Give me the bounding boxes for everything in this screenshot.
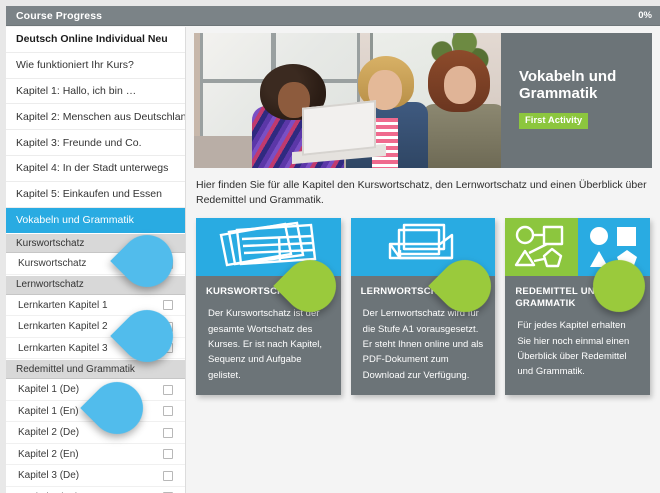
card-title: KURSWORTSCHATZ	[196, 276, 341, 298]
card-body-kurswortschatz: KURSWORTSCHATZ Der Kurswortschatz ist de…	[196, 276, 341, 395]
list-item-label: Kapitel 2 (En)	[18, 449, 79, 460]
list-item-label: Kapitel 1 (En)	[18, 406, 79, 417]
checkbox-icon[interactable]	[163, 259, 173, 269]
sidebar-item-kapitel-5[interactable]: Kapitel 5: Einkaufen und Essen	[6, 182, 185, 208]
sidebar-item-lernkarten-1[interactable]: Lernkarten Kapitel 1	[6, 295, 185, 317]
filled-shapes-icon	[584, 223, 644, 271]
card-title: REDEMITTEL UND GRAMMATIK	[505, 276, 650, 310]
sidebar-course-title: Deutsch Online Individual Neu	[6, 27, 185, 53]
sidebar-group-lernwortschatz: Lernwortschatz	[6, 275, 185, 295]
list-item-label: Lernkarten Kapitel 2	[18, 321, 108, 332]
course-progress-header: Course Progress 0%	[6, 6, 660, 26]
card-text: Für jedes Kapitel erhalten Sie hier noch…	[505, 310, 650, 392]
course-progress-title: Course Progress	[16, 10, 102, 22]
photo-laptop-screen	[302, 100, 376, 156]
sidebar-item-kurswortschatz[interactable]: Kurswortschatz	[6, 253, 185, 275]
sidebar-item-kapitel-2[interactable]: Kapitel 2: Menschen aus Deutschland	[6, 104, 185, 130]
checkbox-icon[interactable]	[163, 300, 173, 310]
card-body-lernwortschatz: LERNWORTSCHATZ Der Lernwortschatz wird f…	[351, 276, 496, 395]
shapes-diagram-icon	[512, 223, 572, 271]
card-header-half-blue	[578, 218, 650, 276]
card-title: LERNWORTSCHATZ	[351, 276, 496, 298]
sidebar-item-kapitel-2-en[interactable]: Kapitel 2 (En)	[6, 444, 185, 466]
card-header-kurswortschatz	[196, 218, 341, 276]
checkbox-icon[interactable]	[163, 406, 173, 416]
list-item-label: Lernkarten Kapitel 1	[18, 300, 108, 311]
checkbox-icon[interactable]	[163, 471, 173, 481]
intro-paragraph: Hier finden Sie für alle Kapitel den Kur…	[194, 168, 652, 218]
sidebar-item-kapitel-4[interactable]: Kapitel 4: In der Stadt unterwegs	[6, 156, 185, 182]
card-header-redemittel	[505, 218, 650, 276]
card-header-lernwortschatz	[351, 218, 496, 276]
hero-banner: Vokabeln und Grammatik First Activity	[194, 33, 652, 168]
sidebar-group-kurswortschatz: Kurswortschatz	[6, 233, 185, 253]
checkbox-icon[interactable]	[163, 385, 173, 395]
hero-photo	[194, 33, 501, 168]
sidebar-item-lernkarten-3[interactable]: Lernkarten Kapitel 3	[6, 338, 185, 360]
main-panel: Vokabeln und Grammatik First Activity Hi…	[186, 27, 660, 493]
first-activity-badge[interactable]: First Activity	[519, 113, 588, 129]
page-title: Vokabeln und Grammatik	[519, 69, 629, 103]
sidebar-item-vokabeln-und-grammatik[interactable]: Vokabeln und Grammatik	[6, 208, 185, 234]
card-header-half-green	[505, 218, 577, 276]
checkbox-icon[interactable]	[163, 322, 173, 332]
card-text: Der Lernwortschatz wird für die Stufe A1…	[351, 298, 496, 395]
sidebar-item-kapitel-3-de[interactable]: Kapitel 3 (De)	[6, 465, 185, 487]
course-navigation-sidebar[interactable]: Deutsch Online Individual Neu Wie funkti…	[6, 27, 186, 493]
checkbox-icon[interactable]	[163, 428, 173, 438]
sidebar-item-lernkarten-2[interactable]: Lernkarten Kapitel 2	[6, 316, 185, 338]
stacked-tables-icon	[213, 221, 323, 273]
checkbox-icon[interactable]	[163, 449, 173, 459]
card-grid: KURSWORTSCHATZ Der Kurswortschatz ist de…	[194, 218, 652, 395]
card-lernwortschatz[interactable]: LERNWORTSCHATZ Der Lernwortschatz wird f…	[351, 218, 496, 395]
sidebar-item-kapitel-3[interactable]: Kapitel 3: Freunde und Co.	[6, 130, 185, 156]
card-redemittel-und-grammatik[interactable]: REDEMITTEL UND GRAMMATIK Für jedes Kapit…	[505, 218, 650, 395]
hero-title-panel: Vokabeln und Grammatik First Activity	[501, 33, 652, 168]
flashcard-box-icon	[378, 222, 468, 272]
sidebar-item-kapitel-2-de[interactable]: Kapitel 2 (De)	[6, 422, 185, 444]
sidebar-item-how-course-works[interactable]: Wie funktioniert Ihr Kurs?	[6, 53, 185, 79]
sidebar-item-kapitel-1-de[interactable]: Kapitel 1 (De)	[6, 379, 185, 401]
list-item-label: Kapitel 2 (De)	[18, 427, 79, 438]
list-item-label: Kapitel 3 (De)	[18, 470, 79, 481]
list-item-label: Kapitel 1 (De)	[18, 384, 79, 395]
card-body-redemittel: REDEMITTEL UND GRAMMATIK Für jedes Kapit…	[505, 276, 650, 391]
content-area: Deutsch Online Individual Neu Wie funkti…	[6, 27, 660, 493]
card-kurswortschatz[interactable]: KURSWORTSCHATZ Der Kurswortschatz ist de…	[196, 218, 341, 395]
list-item-label: Lernkarten Kapitel 3	[18, 343, 108, 354]
sidebar-item-kapitel-1[interactable]: Kapitel 1: Hallo, ich bin …	[6, 79, 185, 105]
course-progress-percent: 0%	[638, 10, 652, 21]
sidebar-item-kapitel-3-en[interactable]: Kapitel 3 (En)	[6, 487, 185, 493]
sidebar-item-kapitel-1-en[interactable]: Kapitel 1 (En)	[6, 401, 185, 423]
photo-person-right	[422, 50, 501, 168]
checkbox-icon[interactable]	[163, 343, 173, 353]
sidebar-group-redemittel-und-grammatik: Redemittel und Grammatik	[6, 359, 185, 379]
course-player-window: Course Progress 0% Deutsch Online Indivi…	[0, 0, 660, 493]
list-item-label: Kurswortschatz	[18, 258, 86, 269]
card-text: Der Kurswortschatz ist der gesamte Worts…	[196, 298, 341, 395]
